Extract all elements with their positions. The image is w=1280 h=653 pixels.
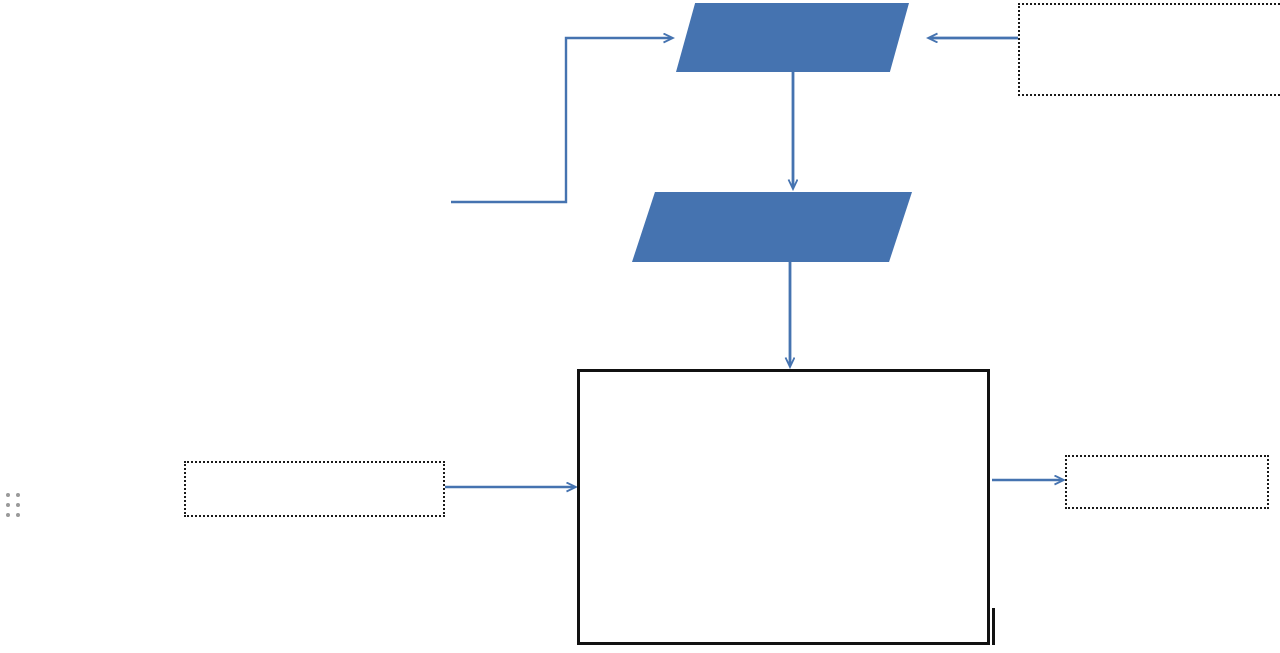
- densenet-diagram: [0, 0, 1280, 653]
- diagram-canvas: [0, 0, 1280, 653]
